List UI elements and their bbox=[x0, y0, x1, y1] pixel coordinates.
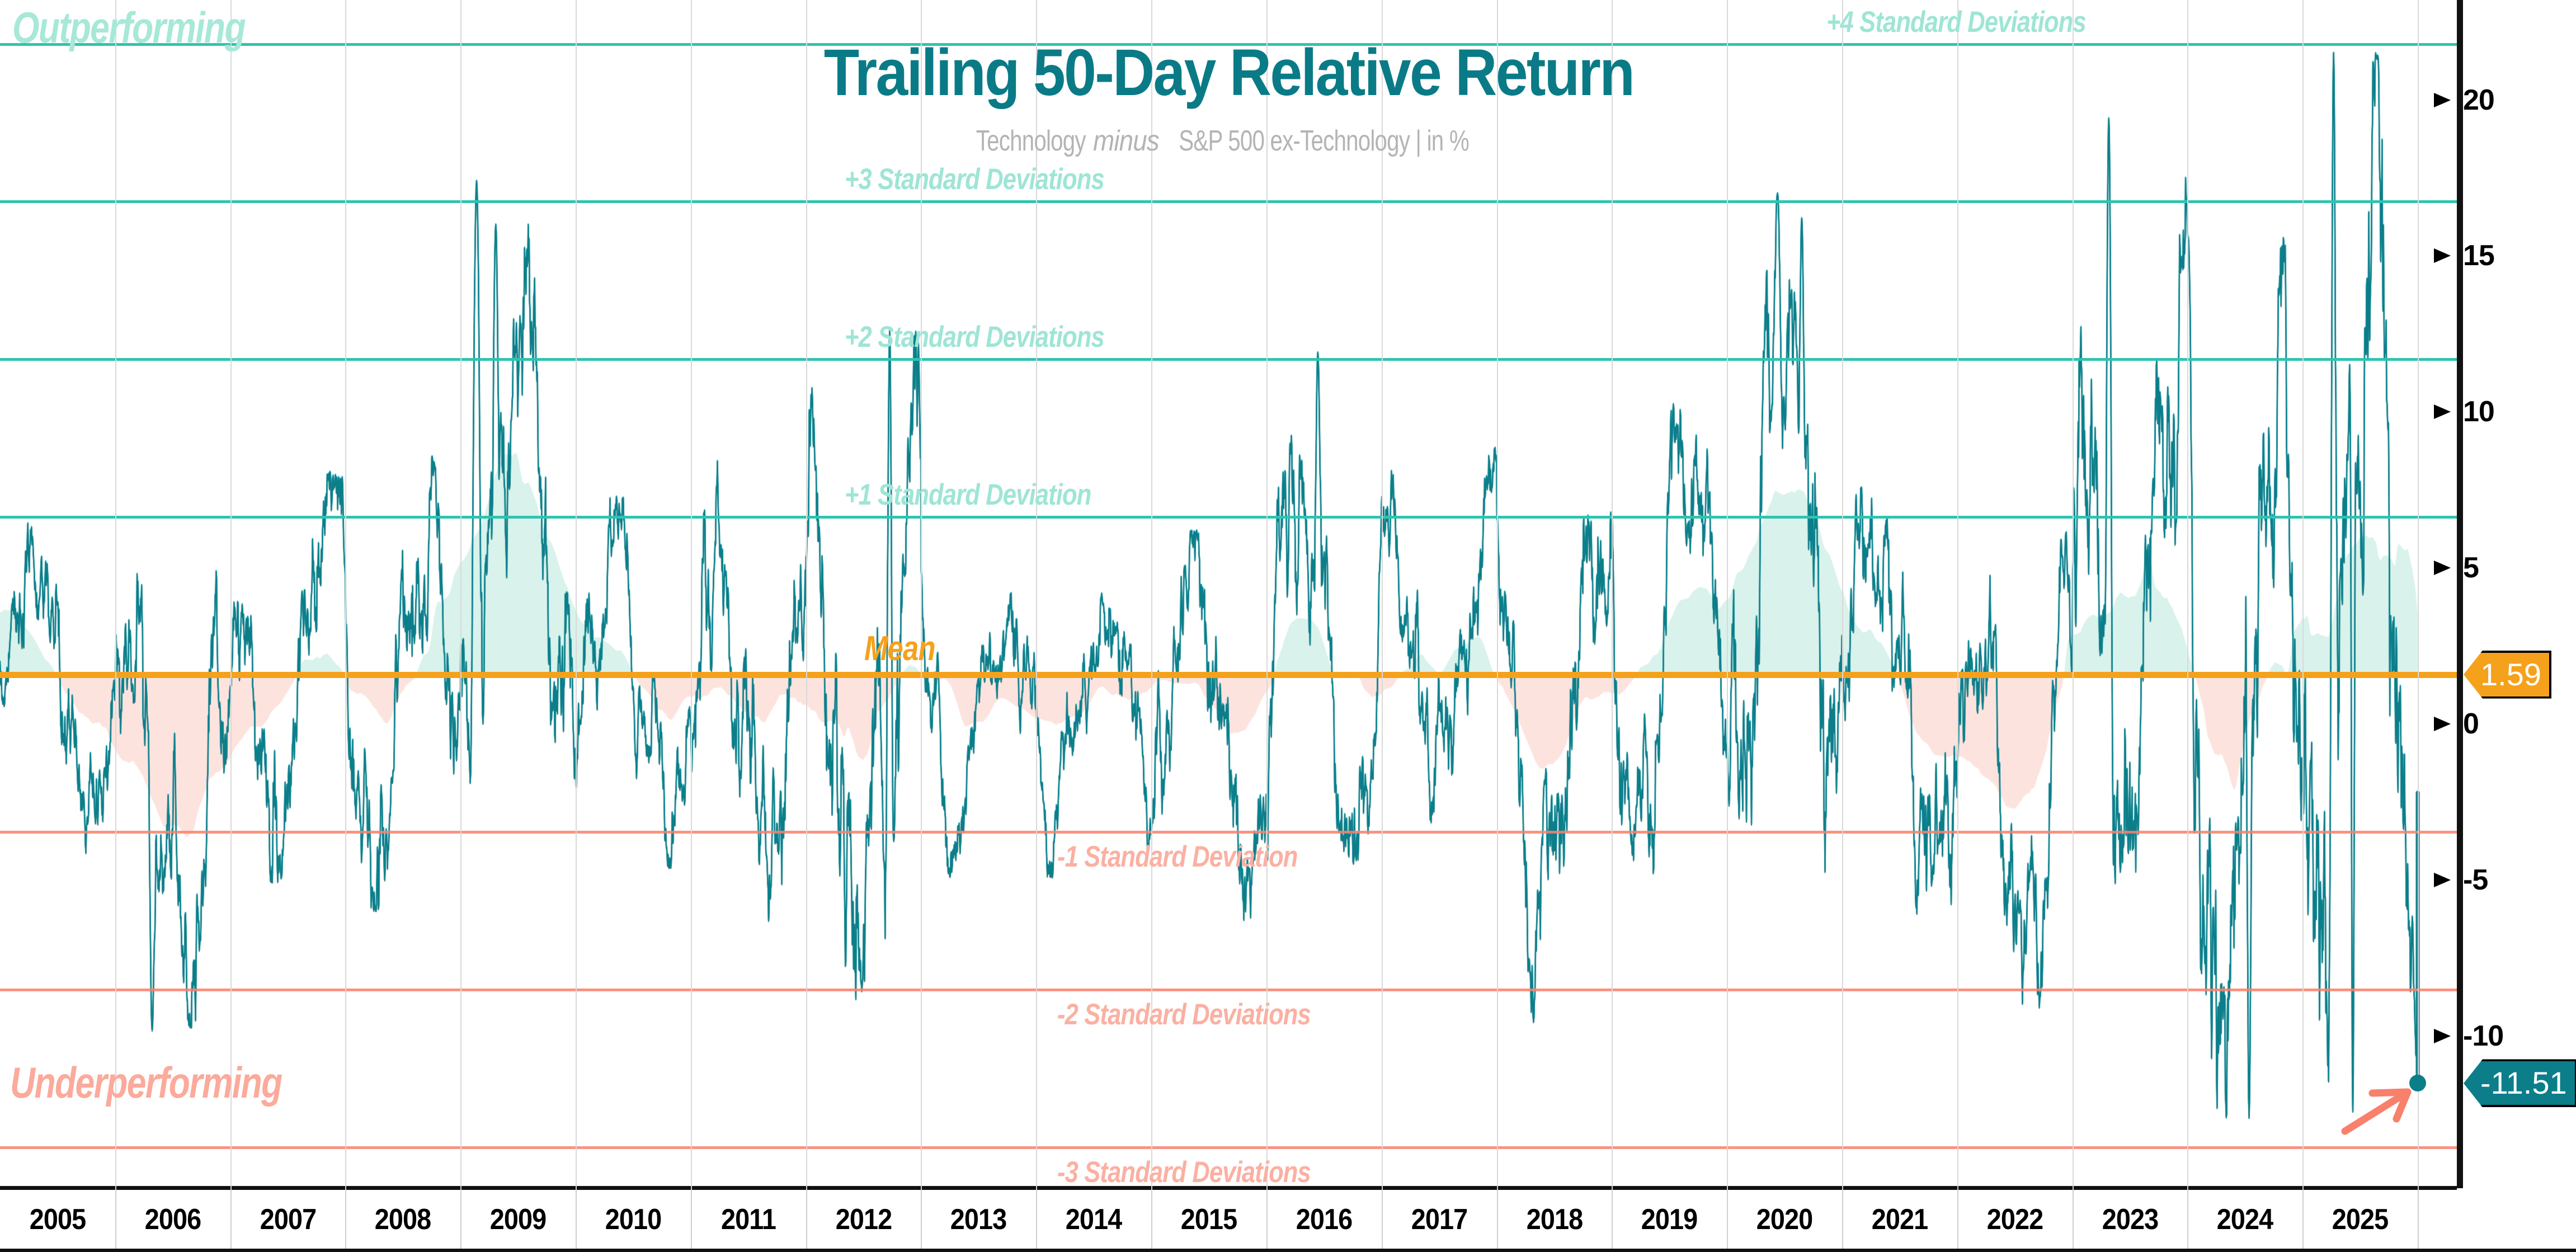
underperforming-label: Underperforming bbox=[10, 1057, 282, 1108]
x-axis-year-2009: 2009 bbox=[490, 1203, 547, 1236]
year-gridline bbox=[1497, 0, 1498, 1186]
year-tick bbox=[230, 1186, 232, 1249]
year-tick bbox=[1266, 1186, 1268, 1249]
year-gridline bbox=[1957, 0, 1958, 1186]
x-axis-year-2007: 2007 bbox=[260, 1203, 317, 1236]
year-gridline bbox=[460, 0, 461, 1186]
y-tick--10: -10 bbox=[2463, 1019, 2503, 1053]
year-tick bbox=[1382, 1186, 1383, 1249]
year-tick bbox=[921, 1186, 922, 1249]
sd-line--2 bbox=[0, 989, 2457, 991]
year-tick bbox=[2418, 1186, 2419, 1249]
sd-line--3 bbox=[0, 1146, 2457, 1149]
sd-line--1 bbox=[0, 831, 2457, 834]
sd-line-1 bbox=[0, 516, 2457, 519]
subtitle-post: S&P 500 ex-Technology | in % bbox=[1179, 124, 1469, 158]
year-tick bbox=[806, 1186, 807, 1249]
year-tick bbox=[460, 1186, 461, 1249]
x-axis-year-2022: 2022 bbox=[1987, 1203, 2043, 1236]
sd-label-4: +4 Standard Deviations bbox=[1826, 5, 2086, 39]
sd-label-3: +3 Standard Deviations bbox=[845, 162, 1104, 196]
current-value-arrow bbox=[2340, 1085, 2413, 1136]
x-axis-year-2014: 2014 bbox=[1066, 1203, 1122, 1236]
year-tick bbox=[576, 1186, 577, 1249]
x-axis-year-2021: 2021 bbox=[1872, 1203, 1928, 1236]
year-gridline bbox=[1842, 0, 1843, 1186]
x-axis-year-2005: 2005 bbox=[30, 1203, 86, 1236]
current-value-marker bbox=[2409, 1075, 2426, 1091]
year-gridline bbox=[2187, 0, 2188, 1186]
x-axis-year-2008: 2008 bbox=[375, 1203, 431, 1236]
x-axis-year-2024: 2024 bbox=[2217, 1203, 2273, 1236]
plot-area: +4 Standard Deviations+3 Standard Deviat… bbox=[0, 0, 2457, 1186]
year-gridline bbox=[2073, 0, 2074, 1186]
sd-label-2: +2 Standard Deviations bbox=[845, 320, 1104, 354]
x-axis-year-2010: 2010 bbox=[605, 1203, 662, 1236]
x-axis-line bbox=[0, 1186, 2457, 1190]
year-gridline bbox=[230, 0, 232, 1186]
year-tick bbox=[1727, 1186, 1728, 1249]
mean-line bbox=[0, 672, 2457, 678]
sd-label--3: -3 Standard Deviations bbox=[1057, 1155, 1311, 1186]
year-gridline bbox=[806, 0, 807, 1186]
year-tick bbox=[2302, 1186, 2304, 1249]
x-axis-year-2020: 2020 bbox=[1756, 1203, 1813, 1236]
x-axis-year-2017: 2017 bbox=[1411, 1203, 1468, 1236]
y-tick-20: 20 bbox=[2463, 83, 2494, 117]
x-axis-year-2006: 2006 bbox=[145, 1203, 201, 1236]
year-gridline bbox=[2302, 0, 2304, 1186]
year-gridline bbox=[1382, 0, 1383, 1186]
year-tick bbox=[1036, 1186, 1037, 1249]
x-axis-year-2011: 2011 bbox=[721, 1203, 776, 1236]
year-tick bbox=[1151, 1186, 1152, 1249]
year-gridline bbox=[115, 0, 116, 1186]
sd-line-3 bbox=[0, 200, 2457, 203]
year-tick bbox=[1842, 1186, 1843, 1249]
year-tick bbox=[1957, 1186, 1958, 1249]
subtitle-pre: Technology bbox=[976, 124, 1086, 158]
year-tick bbox=[2187, 1186, 2188, 1249]
year-tick bbox=[1612, 1186, 1613, 1249]
mean-line-label: Mean bbox=[864, 629, 935, 669]
y-axis-line bbox=[2457, 0, 2463, 1188]
sd-label--1: -1 Standard Deviation bbox=[1057, 840, 1298, 874]
current-value-callout: -11.51 bbox=[2464, 1059, 2576, 1107]
x-axis-year-2025: 2025 bbox=[2332, 1203, 2389, 1236]
year-tick bbox=[2073, 1186, 2074, 1249]
mean-value-callout: 1.59 bbox=[2464, 651, 2551, 699]
y-tick-10: 10 bbox=[2463, 395, 2494, 429]
year-gridline bbox=[2418, 0, 2419, 1186]
year-tick bbox=[115, 1186, 116, 1249]
y-tick--5: -5 bbox=[2463, 863, 2488, 897]
year-gridline bbox=[691, 0, 692, 1186]
x-axis-year-2013: 2013 bbox=[950, 1203, 1007, 1236]
year-gridline bbox=[345, 0, 346, 1186]
y-tick-15: 15 bbox=[2463, 239, 2494, 272]
x-axis-year-2018: 2018 bbox=[1527, 1203, 1583, 1236]
sd-label-1: +1 Standard Deviation bbox=[845, 478, 1091, 512]
year-gridline bbox=[1612, 0, 1613, 1186]
year-tick bbox=[1497, 1186, 1498, 1249]
y-tick-5: 5 bbox=[2463, 551, 2479, 585]
subtitle-emphasis: minus bbox=[1093, 125, 1159, 157]
x-axis-year-2012: 2012 bbox=[836, 1203, 892, 1236]
page-title: Trailing 50-Day Relative Return bbox=[0, 35, 2457, 111]
year-gridline bbox=[576, 0, 577, 1186]
year-tick bbox=[345, 1186, 346, 1249]
year-tick bbox=[691, 1186, 692, 1249]
page-subtitle: Technology minus S&P 500 ex-Technology |… bbox=[0, 124, 2457, 158]
y-tick-0: 0 bbox=[2463, 707, 2479, 741]
chart-root: +4 Standard Deviations+3 Standard Deviat… bbox=[0, 0, 2576, 1252]
sd-line-2 bbox=[0, 358, 2457, 361]
x-axis-year-2015: 2015 bbox=[1181, 1203, 1237, 1236]
sd-label--2: -2 Standard Deviations bbox=[1057, 997, 1311, 1032]
x-axis-baseline bbox=[0, 1249, 2576, 1252]
x-axis-year-2019: 2019 bbox=[1641, 1203, 1698, 1236]
year-gridline bbox=[1727, 0, 1728, 1186]
x-axis-year-2023: 2023 bbox=[2102, 1203, 2159, 1236]
x-axis-year-2016: 2016 bbox=[1296, 1203, 1353, 1236]
